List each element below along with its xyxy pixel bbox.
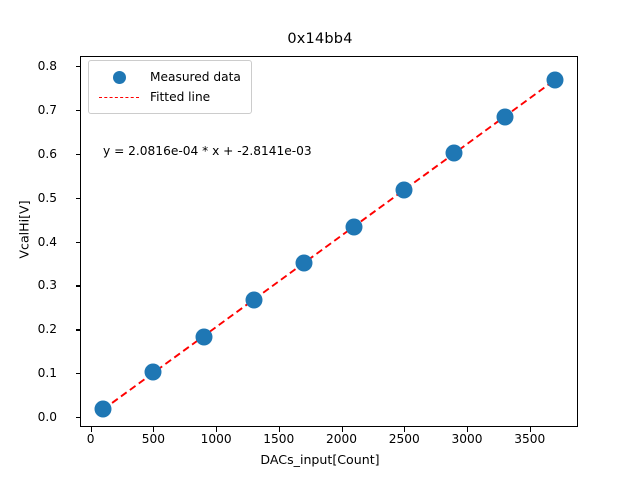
x-tick-mark xyxy=(91,427,92,432)
data-point xyxy=(95,401,112,418)
chart-legend: Measured data Fitted line xyxy=(88,60,252,114)
x-tick-mark xyxy=(342,427,343,432)
data-point xyxy=(546,72,563,89)
data-point xyxy=(245,292,262,309)
data-point xyxy=(496,109,513,126)
legend-label: Fitted line xyxy=(141,90,210,104)
data-point xyxy=(346,218,363,235)
data-point xyxy=(396,182,413,199)
x-tick-mark xyxy=(404,427,405,432)
x-axis-label: DACs_input[Count] xyxy=(0,452,640,467)
y-tick-label: 0.7 xyxy=(0,103,57,117)
dashed-line-icon xyxy=(97,97,141,98)
data-point xyxy=(195,328,212,345)
data-point xyxy=(295,255,312,272)
x-tick-mark xyxy=(279,427,280,432)
chart-title: 0x14bb4 xyxy=(0,31,640,47)
y-tick-label: 0.1 xyxy=(0,366,57,380)
x-tick-mark xyxy=(530,427,531,432)
y-tick-label: 0.8 xyxy=(0,59,57,73)
data-point xyxy=(446,144,463,161)
y-tick-label: 0.6 xyxy=(0,147,57,161)
x-tick-mark xyxy=(153,427,154,432)
legend-label: Measured data xyxy=(141,70,241,84)
y-axis-label: VcalHi[V] xyxy=(17,160,32,300)
fit-equation-annotation: y = 2.0816e-04 * x + -2.8141e-03 xyxy=(103,144,312,158)
circle-marker-icon xyxy=(97,71,141,84)
x-tick-label: 3500 xyxy=(490,432,570,446)
legend-item-measured-data: Measured data xyxy=(97,67,241,87)
x-tick-mark xyxy=(216,427,217,432)
legend-item-fitted-line: Fitted line xyxy=(97,87,241,107)
data-point xyxy=(145,364,162,381)
fitted-line xyxy=(103,80,555,409)
y-tick-label: 0.0 xyxy=(0,410,57,424)
x-tick-mark xyxy=(467,427,468,432)
y-tick-label: 0.2 xyxy=(0,322,57,336)
figure-canvas: 0x14bb4 0.00.10.20.30.40.50.60.70.8 0500… xyxy=(0,0,640,480)
